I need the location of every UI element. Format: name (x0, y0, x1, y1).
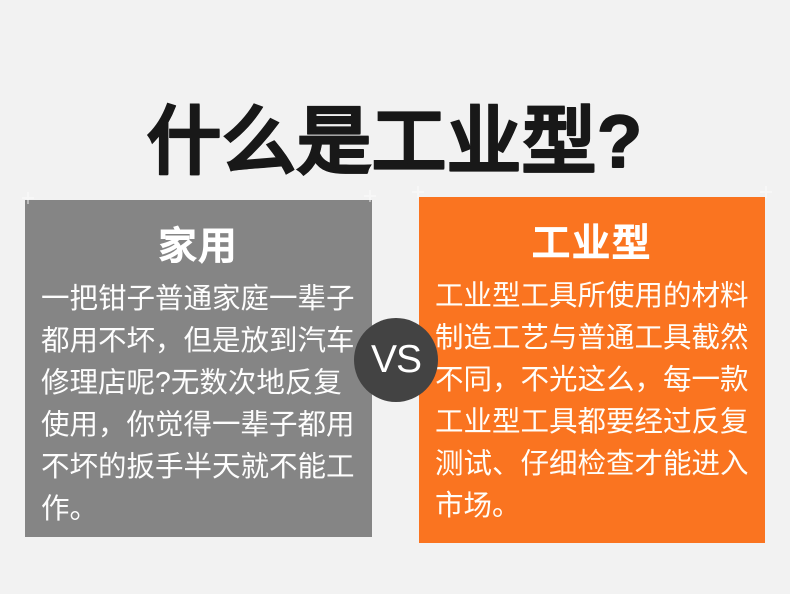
panel-home-use-title: 家用 (41, 220, 356, 274)
panel-home-use: 家用 一把钳子普通家庭一辈子都用不坏，但是放到汽车修理店呢?无数次地反复使用，你… (25, 200, 372, 537)
panel-industrial-type-title: 工业型 (435, 217, 749, 271)
versus-badge: VS (354, 318, 438, 402)
comparison-infographic: 什么是工业型? 家用 一把钳子普通家庭一辈子都用不坏，但是放到汽车修理店呢?无数… (0, 0, 790, 594)
panel-home-use-body: 一把钳子普通家庭一辈子都用不坏，但是放到汽车修理店呢?无数次地反复使用，你觉得一… (41, 278, 356, 530)
versus-badge-label: VS (371, 340, 421, 379)
panel-industrial-type-body: 工业型工具所使用的材料制造工艺与普通工具截然不同，不光这么，每一款工业型工具都要… (435, 275, 749, 527)
panel-industrial-type: 工业型 工业型工具所使用的材料制造工艺与普通工具截然不同，不光这么，每一款工业型… (419, 197, 765, 543)
page-title: 什么是工业型? (0, 98, 790, 186)
